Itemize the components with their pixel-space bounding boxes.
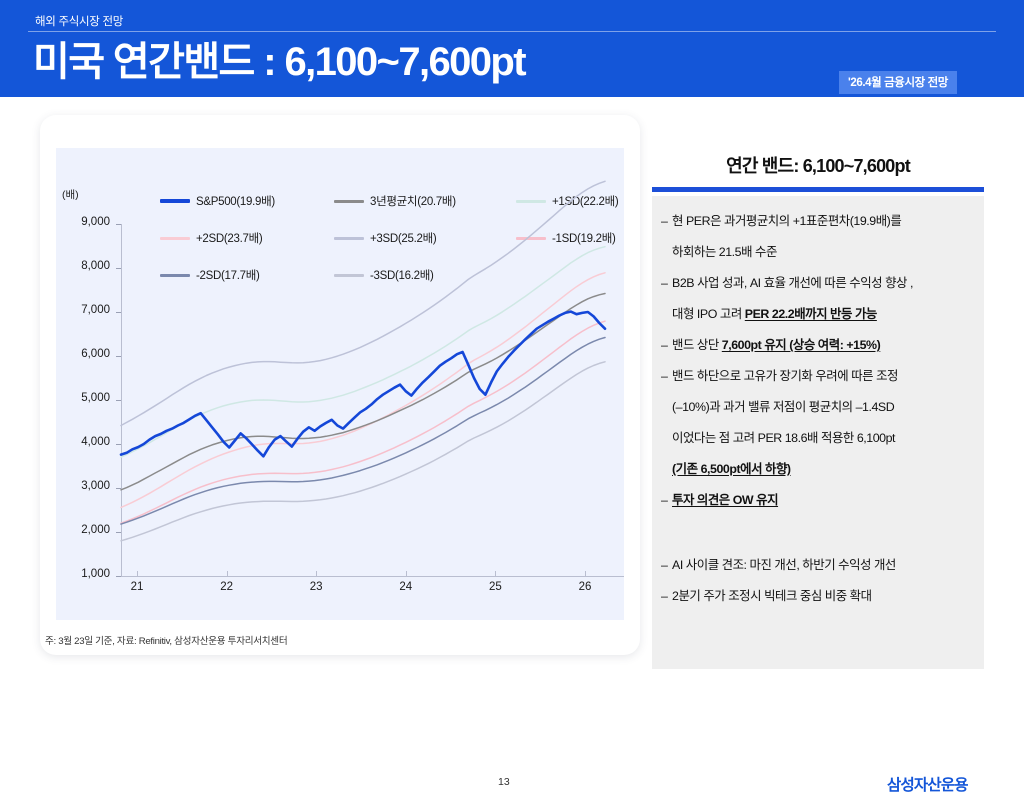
bullet-text: 밴드 상단 7,600pt 유지 (상승 여력: +15%) — [672, 330, 880, 361]
header-kicker: 해외 주식시장 전망 — [35, 13, 123, 29]
bullet-text: 하회하는 21.5배 수준 — [672, 237, 777, 268]
bullet-item: –2분기 주가 조정시 빅테크 중심 비중 확대 — [652, 581, 984, 612]
bullet-segment: 밴드 상단 — [672, 338, 722, 352]
bullet-text: (–10%)과 과거 밸류 저점이 평균치의 –1.4SD — [672, 392, 894, 423]
bullet-item: (기존 6,500pt에서 하향) — [652, 454, 984, 485]
chart-series-svg — [56, 148, 624, 620]
bullet-dash-icon: – — [661, 206, 672, 237]
slide-body: (배) S&P500(19.9배)3년평균치(20.7배)+1SD(22.2배)… — [0, 97, 1024, 709]
bullet-segment: B2B 사업 성과, AI 효율 개선에 따른 수익성 향상 , — [672, 276, 913, 290]
bullet-text: B2B 사업 성과, AI 효율 개선에 따른 수익성 향상 , — [672, 268, 913, 299]
page-title: 미국 연간밴드 : 6,100~7,600pt — [33, 40, 525, 84]
bullet-segment: 현 PER은 과거평균치의 +1표준편차(19.9배)를 — [672, 214, 901, 228]
bullet-dash-icon: – — [661, 485, 672, 516]
bullet-text: (기존 6,500pt에서 하향) — [672, 454, 791, 485]
summary-bullet-list: –현 PER은 과거평균치의 +1표준편차(19.9배)를하회하는 21.5배 … — [652, 196, 984, 669]
bullet-item: –밴드 하단으로 고유가 장기화 우려에 따른 조정 — [652, 361, 984, 392]
bullet-item: 대형 IPO 고려 PER 22.2배까지 반등 가능 — [652, 299, 984, 330]
bullet-segment: (–10%)과 과거 밸류 저점이 평균치의 –1.4SD — [672, 400, 894, 414]
bullet-spacer — [652, 516, 984, 550]
bullet-text: AI 사이클 견조: 마진 개선, 하반기 수익성 개선 — [672, 550, 896, 581]
status-badge: '26.4월 금융시장 전망 — [839, 71, 957, 94]
chart-series-line — [121, 338, 605, 525]
bullet-emphasis: (기존 6,500pt에서 하향) — [672, 462, 791, 476]
bullet-item: –현 PER은 과거평균치의 +1표준편차(19.9배)를 — [652, 206, 984, 237]
chart-card: (배) S&P500(19.9배)3년평균치(20.7배)+1SD(22.2배)… — [40, 115, 640, 655]
chart-series-line — [121, 312, 605, 457]
summary-panel: 연간 밴드: 6,100~7,600pt –현 PER은 과거평균치의 +1표준… — [652, 152, 984, 669]
header-divider — [28, 31, 996, 32]
bullet-dash-icon: – — [661, 361, 672, 392]
bullet-text: 현 PER은 과거평균치의 +1표준편차(19.9배)를 — [672, 206, 901, 237]
bullet-text: 대형 IPO 고려 PER 22.2배까지 반등 가능 — [672, 299, 877, 330]
bullet-segment: 이었다는 점 고려 PER 18.6배 적용한 6,100pt — [672, 431, 895, 445]
bullet-segment: 대형 IPO 고려 — [672, 307, 745, 321]
chart-series-line — [121, 321, 605, 523]
bullet-text: 밴드 하단으로 고유가 장기화 우려에 따른 조정 — [672, 361, 898, 392]
bullet-dash-icon: – — [661, 268, 672, 299]
bullet-item: –투자 의견은 OW 유지 — [652, 485, 984, 516]
bullet-item: –B2B 사업 성과, AI 효율 개선에 따른 수익성 향상 , — [652, 268, 984, 299]
bullet-dash-icon: – — [661, 581, 672, 612]
bullet-item: (–10%)과 과거 밸류 저점이 평균치의 –1.4SD — [652, 392, 984, 423]
page-number: 13 — [498, 776, 510, 788]
bullet-dash-icon: – — [661, 330, 672, 361]
bullet-item: –밴드 상단 7,600pt 유지 (상승 여력: +15%) — [652, 330, 984, 361]
brand-logo: 삼성자산운용 — [887, 773, 968, 795]
bullet-emphasis: 7,600pt 유지 (상승 여력: +15%) — [722, 338, 880, 352]
bullet-text: 2분기 주가 조정시 빅테크 중심 비중 확대 — [672, 581, 872, 612]
summary-accent-bar — [652, 187, 984, 192]
bullet-emphasis: PER 22.2배까지 반등 가능 — [745, 307, 877, 321]
bullet-segment: AI 사이클 견조: 마진 개선, 하반기 수익성 개선 — [672, 558, 896, 572]
bullet-emphasis: 투자 의견은 OW 유지 — [672, 493, 778, 507]
chart-series-line — [121, 273, 605, 508]
bullet-segment: 밴드 하단으로 고유가 장기화 우려에 따른 조정 — [672, 369, 898, 383]
bullet-item: 하회하는 21.5배 수준 — [652, 237, 984, 268]
bullet-segment: 하회하는 21.5배 수준 — [672, 245, 777, 259]
bullet-text: 투자 의견은 OW 유지 — [672, 485, 778, 516]
bullet-item: –AI 사이클 견조: 마진 개선, 하반기 수익성 개선 — [652, 550, 984, 581]
bullet-segment: 2분기 주가 조정시 빅테크 중심 비중 확대 — [672, 589, 872, 603]
bullet-dash-icon: – — [661, 550, 672, 581]
bullet-text: 이었다는 점 고려 PER 18.6배 적용한 6,100pt — [672, 423, 895, 454]
summary-title: 연간 밴드: 6,100~7,600pt — [652, 152, 984, 178]
slide-header: 해외 주식시장 전망 미국 연간밴드 : 6,100~7,600pt '26.4… — [0, 0, 1024, 97]
bullet-item: 이었다는 점 고려 PER 18.6배 적용한 6,100pt — [652, 423, 984, 454]
chart-source-note: 주: 3월 23일 기준, 자료: Refinitiv, 삼성자산운용 투자리서… — [45, 633, 287, 647]
